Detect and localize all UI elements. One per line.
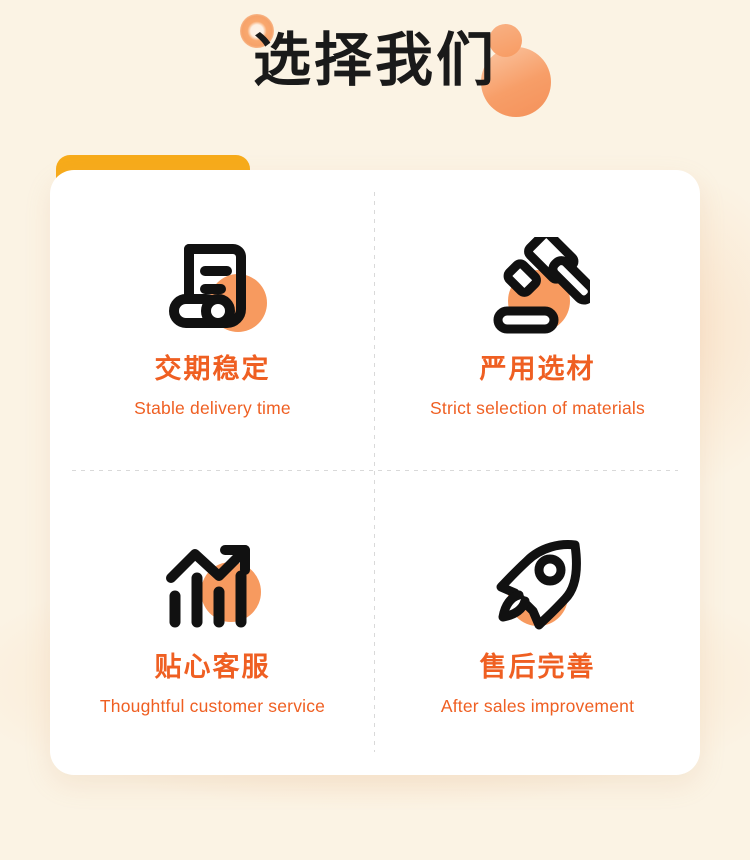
growth-chart-icon [153,532,273,636]
feature-title-en: Strict selection of materials [430,397,645,419]
feature-title-cn: 严用选材 [480,352,596,386]
gavel-icon [478,234,598,338]
features-card: 交期稳定 Stable delivery time 严用选材 Strict se… [50,170,700,775]
feature-item-customer-service[interactable]: 贴心客服 Thoughtful customer service [50,473,375,776]
feature-title-cn: 交期稳定 [155,352,271,386]
page-header: 选择我们 [0,0,750,170]
page-title: 选择我们 [0,26,750,96]
feature-title-en: Stable delivery time [134,397,291,419]
feature-item-stable-delivery[interactable]: 交期稳定 Stable delivery time [50,170,375,473]
features-grid: 交期稳定 Stable delivery time 严用选材 Strict se… [50,170,700,775]
scroll-document-icon [153,234,273,338]
feature-title-cn: 售后完善 [480,650,596,684]
features-card-wrapper: 交期稳定 Stable delivery time 严用选材 Strict se… [50,155,700,775]
feature-item-strict-selection[interactable]: 严用选材 Strict selection of materials [375,170,700,473]
feature-title-en: Thoughtful customer service [100,695,325,717]
feature-title-cn: 贴心客服 [155,650,271,684]
feature-title-en: After sales improvement [441,695,634,717]
rocket-icon [478,532,598,636]
feature-item-after-sales[interactable]: 售后完善 After sales improvement [375,473,700,776]
